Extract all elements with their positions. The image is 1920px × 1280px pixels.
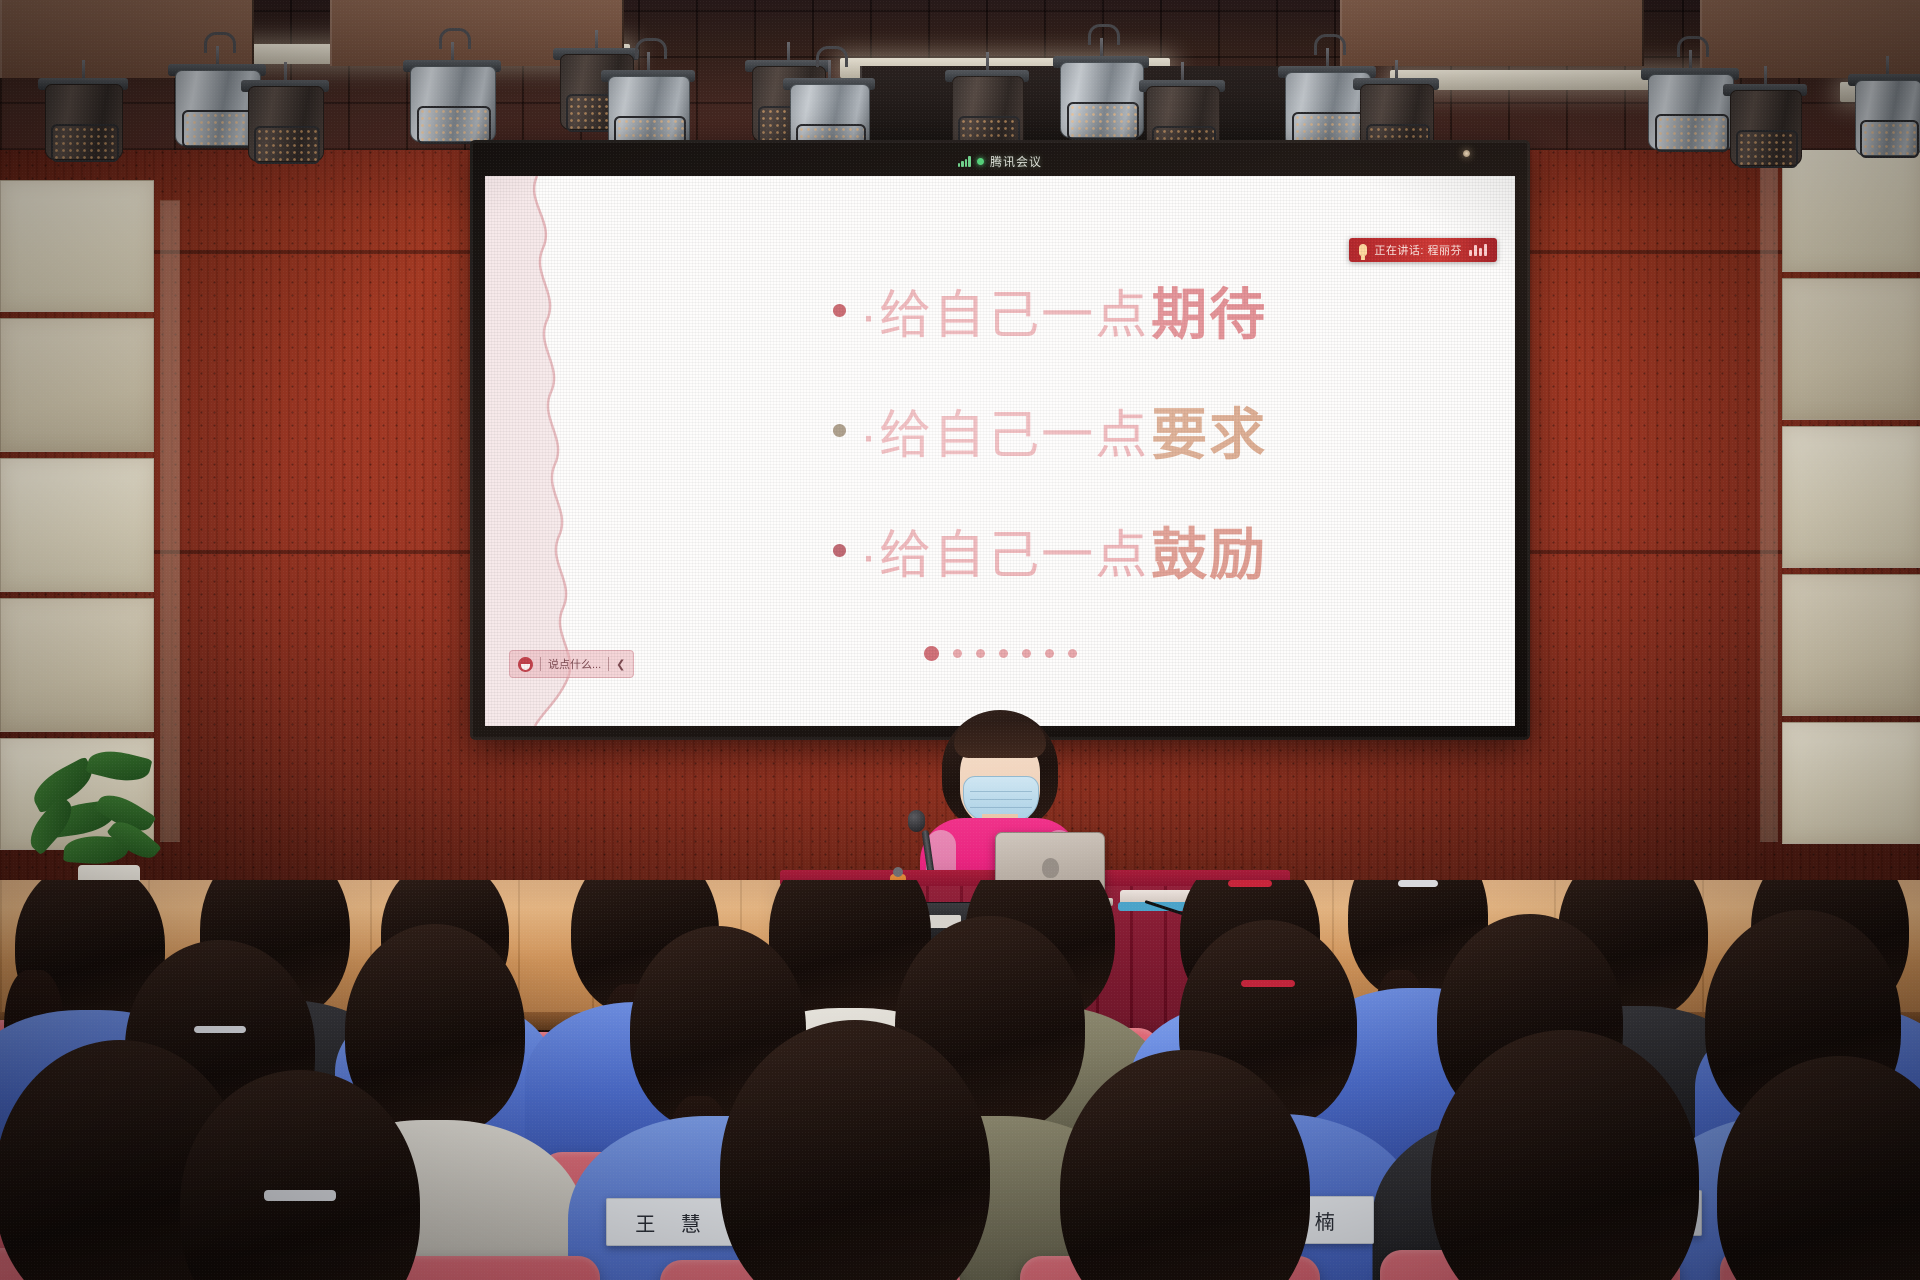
- signal-strength-icon: [958, 156, 971, 167]
- slide-line-1-emphasis: 期待: [1151, 270, 1267, 351]
- audience-member: [150, 1070, 450, 1280]
- audio-waveform-icon: [1469, 244, 1487, 256]
- led-screen-display: ·给自己一点 期待 ·给自己一点 要求 ·给自己一点 鼓励: [485, 176, 1515, 726]
- presenter-fringe: [954, 722, 1046, 758]
- slide-bullet-1: [833, 304, 846, 317]
- acoustic-panel-left-2: [0, 318, 154, 452]
- acoustic-panel-right-edge: [1760, 150, 1778, 842]
- audience-member: [700, 1020, 1010, 1280]
- acoustic-panel-left-3: [0, 458, 154, 592]
- acoustic-panel-right-3: [1782, 426, 1920, 568]
- ceiling-baffle-4: [1340, 0, 1644, 66]
- stage-light-16: [1855, 56, 1920, 172]
- slide-line-2-emphasis: 要求: [1151, 390, 1267, 471]
- hair-tie: [264, 1190, 336, 1201]
- hair-tie: [1241, 980, 1295, 987]
- hair-tie: [1228, 880, 1272, 887]
- slide-line-3-emphasis: 鼓励: [1151, 510, 1267, 591]
- pagination-dot: [999, 649, 1008, 658]
- slide-line-3: ·给自己一点 鼓励: [605, 490, 1495, 610]
- acoustic-panel-left-1: [0, 180, 154, 312]
- chat-input-placeholder[interactable]: 说点什么...: [548, 656, 601, 672]
- pagination-dot: [1045, 649, 1054, 658]
- active-speaker-badge[interactable]: 正在讲话: 程丽芬: [1349, 238, 1497, 262]
- stage-light-3: [248, 62, 322, 172]
- led-screen-frame: 腾讯会议 ·给自己一点 期待 ·给自己一点 要求: [470, 140, 1530, 740]
- active-speaker-label: 正在讲话: 程丽芬: [1374, 242, 1462, 258]
- slide-line-2: ·给自己一点 要求: [605, 370, 1495, 490]
- acoustic-panel-left-4: [0, 598, 154, 732]
- audience-area: 李 旭 王 慧 赵 楠 陈 敏: [0, 880, 1920, 1280]
- microphone-head: [908, 810, 925, 832]
- slide-line-1-prefix: ·给自己一点: [860, 273, 1149, 348]
- meeting-chat-input-bar[interactable]: 说点什么... ❮: [509, 650, 634, 678]
- slide-line-2-prefix: ·给自己一点: [860, 393, 1149, 468]
- pagination-dot: [1068, 649, 1077, 658]
- stage-light-1: [45, 60, 121, 170]
- chevron-left-icon[interactable]: ❮: [616, 658, 625, 671]
- slide-line-3-prefix: ·给自己一点: [860, 513, 1149, 588]
- audience-member: [1690, 1056, 1920, 1280]
- pagination-dot-active: [924, 646, 939, 661]
- auditorium-scene: 腾讯会议 ·给自己一点 期待 ·给自己一点 要求: [0, 0, 1920, 1280]
- audience-member: [1035, 1050, 1335, 1280]
- acoustic-panel-right-5: [1782, 722, 1920, 844]
- slide-pagination-dots: [485, 646, 1515, 661]
- stage-light-10: [1060, 38, 1142, 156]
- slide-bullet-2: [833, 424, 846, 437]
- microphone-icon: [1359, 244, 1367, 256]
- hair-tie: [1398, 880, 1438, 887]
- acoustic-panel-left-6: [160, 200, 180, 842]
- slide-bullet-3: [833, 544, 846, 557]
- stage-light-2: [175, 46, 259, 164]
- slide-text-block: ·给自己一点 期待 ·给自己一点 要求 ·给自己一点 鼓励: [605, 250, 1495, 610]
- pagination-dot: [953, 649, 962, 658]
- tencent-meeting-statusbar: 腾讯会议: [480, 148, 1520, 174]
- online-status-dot: [977, 158, 984, 165]
- slide-line-1: ·给自己一点 期待: [605, 250, 1495, 370]
- acoustic-panel-right-2: [1782, 278, 1920, 420]
- apple-logo-icon: [1042, 858, 1059, 878]
- slide-wave-decoration: [485, 176, 595, 726]
- stage-light-14: [1648, 50, 1732, 168]
- platform-label: 腾讯会议: [990, 153, 1042, 170]
- hair-tie: [194, 1026, 246, 1033]
- pagination-dot: [976, 649, 985, 658]
- stage-light-15: [1730, 66, 1800, 172]
- pagination-dot: [1022, 649, 1031, 658]
- acoustic-panel-right-4: [1782, 574, 1920, 716]
- audience-member: [1410, 1030, 1720, 1280]
- user-avatar-icon: [518, 657, 533, 672]
